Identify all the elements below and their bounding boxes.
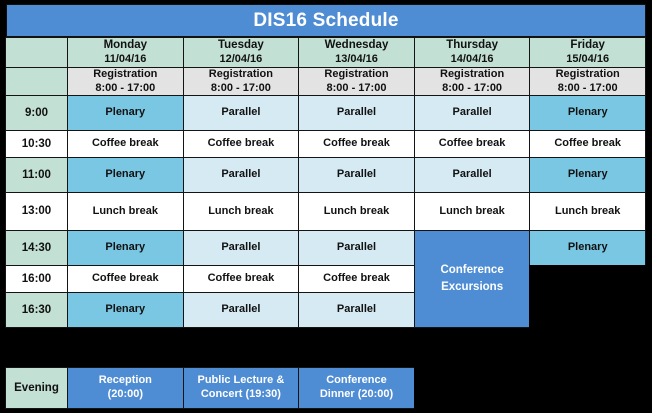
day-header-monday: Monday11/04/16 — [67, 37, 184, 68]
slot-thursday-900: Parallel — [414, 95, 531, 131]
slot-wednesday-1100: Parallel — [298, 157, 415, 193]
registration-cell-friday-line-1: Registration — [556, 68, 620, 82]
evening-event-2: Public Lecture &Concert (19:30) — [183, 367, 300, 409]
evening-event-4-empty — [414, 367, 531, 409]
slot-monday-1600-line-1: Coffee break — [92, 272, 159, 286]
registration-cell-wednesday-line-2: 8:00 - 17:00 — [327, 82, 387, 96]
time-label-1600-line-1: 16:00 — [22, 272, 51, 286]
page-title: DIS16 Schedule — [253, 11, 398, 30]
day-header-tuesday: Tuesday12/04/16 — [183, 37, 300, 68]
evening-row: EveningReception(20:00)Public Lecture &C… — [6, 368, 646, 409]
time-label-1100-line-1: 11:00 — [22, 168, 51, 182]
slot-friday-900-line-1: Plenary — [568, 106, 608, 120]
slot-tuesday-1430: Parallel — [183, 230, 300, 266]
slot-friday-1100-line-1: Plenary — [568, 168, 608, 182]
registration-cell-monday-line-2: 8:00 - 17:00 — [95, 82, 155, 96]
time-label-1430: 14:30 — [5, 230, 68, 266]
slot-tuesday-1100-line-1: Parallel — [221, 168, 260, 182]
slot-monday-900: Plenary — [67, 95, 184, 131]
evening-event-1-line-1: Reception — [99, 374, 152, 388]
slot-wednesday-1030-line-1: Coffee break — [323, 137, 390, 151]
slot-tuesday-900-line-1: Parallel — [221, 106, 260, 120]
time-label-1600: 16:00 — [5, 265, 68, 293]
slot-monday-1430: Plenary — [67, 230, 184, 266]
evening-event-5-empty — [529, 367, 646, 409]
slot-thursday-1030-line-1: Coffee break — [439, 137, 506, 151]
slot-monday-1630: Plenary — [67, 292, 184, 328]
slot-tuesday-1430-line-1: Parallel — [221, 241, 260, 255]
day-header-friday-line-2: 15/04/16 — [566, 53, 609, 67]
evening-event-3: ConferenceDinner (20:00) — [298, 367, 415, 409]
evening-label-cell-line-1: Evening — [14, 381, 59, 395]
time-label-1100: 11:00 — [5, 157, 68, 193]
slot-tuesday-900: Parallel — [183, 95, 300, 131]
time-label-1300-line-1: 13:00 — [22, 204, 51, 218]
slot-friday-1030: Coffee break — [529, 130, 646, 158]
slot-wednesday-1300-line-1: Lunch break — [324, 205, 389, 219]
time-label-1430-line-1: 14:30 — [22, 241, 51, 255]
slot-monday-1430-line-1: Plenary — [105, 241, 145, 255]
registration-cell-thursday-line-2: 8:00 - 17:00 — [442, 82, 502, 96]
slot-wednesday-1030: Coffee break — [298, 130, 415, 158]
slot-thursday-1430-line-1: Conference — [440, 262, 503, 279]
slot-wednesday-1600-line-1: Coffee break — [323, 272, 390, 286]
slot-thursday-1100: Parallel — [414, 157, 531, 193]
registration-cell-thursday: Registration8:00 - 17:00 — [414, 67, 531, 96]
day-header-thursday-line-2: 14/04/16 — [451, 53, 494, 67]
evening-label-cell: Evening — [5, 367, 68, 409]
schedule-page: DIS16 Schedule Monday11/04/16Tuesday12/0… — [0, 0, 652, 413]
evening-event-1: Reception(20:00) — [67, 367, 184, 409]
day-header-wednesday-line-2: 13/04/16 — [335, 53, 378, 67]
evening-event-1-line-2: (20:00) — [108, 388, 143, 402]
slot-wednesday-900: Parallel — [298, 95, 415, 131]
slot-wednesday-1430-line-1: Parallel — [337, 241, 376, 255]
slot-monday-1030: Coffee break — [67, 130, 184, 158]
slot-monday-900-line-1: Plenary — [105, 106, 145, 120]
slot-friday-1100: Plenary — [529, 157, 646, 193]
evening-event-2-line-1: Public Lecture & — [197, 374, 284, 388]
slot-thursday-900-line-1: Parallel — [453, 106, 492, 120]
slot-thursday-1030: Coffee break — [414, 130, 531, 158]
slot-wednesday-1600: Coffee break — [298, 265, 415, 293]
slot-tuesday-1030: Coffee break — [183, 130, 300, 158]
day-header-wednesday-line-1: Wednesday — [325, 38, 389, 52]
time-label-900: 9:00 — [5, 95, 68, 131]
registration-cell-monday: Registration8:00 - 17:00 — [67, 67, 184, 96]
registration-time-cell — [5, 67, 68, 96]
time-label-900-line-1: 9:00 — [25, 106, 48, 120]
slot-friday-1030-line-1: Coffee break — [554, 137, 621, 151]
evening-event-2-line-2: Concert (19:30) — [201, 388, 281, 402]
slot-tuesday-1030-line-1: Coffee break — [208, 137, 275, 151]
day-header-wednesday: Wednesday13/04/16 — [298, 37, 415, 68]
slot-tuesday-1300: Lunch break — [183, 192, 300, 231]
registration-cell-friday: Registration8:00 - 17:00 — [529, 67, 646, 96]
schedule-table: Monday11/04/16Tuesday12/04/16Wednesday13… — [6, 38, 646, 353]
evening-event-3-line-1: Conference — [326, 374, 387, 388]
slot-tuesday-1630-line-1: Parallel — [221, 303, 260, 317]
slot-friday-1430: Plenary — [529, 230, 646, 266]
time-label-1630: 16:30 — [5, 292, 68, 328]
registration-cell-tuesday-line-1: Registration — [209, 68, 273, 82]
slot-monday-1300: Lunch break — [67, 192, 184, 231]
slot-friday-1630-empty — [529, 292, 646, 328]
day-header-thursday-line-1: Thursday — [446, 38, 498, 52]
day-header-friday-line-1: Friday — [570, 38, 605, 52]
slot-tuesday-1300-line-1: Lunch break — [208, 205, 273, 219]
slot-monday-1300-line-1: Lunch break — [93, 205, 158, 219]
time-label-1030-line-1: 10:30 — [22, 137, 51, 151]
slot-thursday-1300-line-1: Lunch break — [439, 205, 504, 219]
registration-cell-friday-line-2: 8:00 - 17:00 — [558, 82, 618, 96]
slot-tuesday-1600-line-1: Coffee break — [208, 272, 275, 286]
slot-thursday-1430: ConferenceExcursions — [414, 230, 531, 328]
slot-wednesday-1300: Lunch break — [298, 192, 415, 231]
slot-friday-1300-line-1: Lunch break — [555, 205, 620, 219]
slot-friday-1600-empty — [529, 265, 646, 293]
slot-monday-1100: Plenary — [67, 157, 184, 193]
slot-friday-900: Plenary — [529, 95, 646, 131]
slot-thursday-1100-line-1: Parallel — [453, 168, 492, 182]
time-label-1630-line-1: 16:30 — [22, 303, 51, 317]
day-header-thursday: Thursday14/04/16 — [414, 37, 531, 68]
slot-monday-1630-line-1: Plenary — [105, 303, 145, 317]
slot-monday-1600: Coffee break — [67, 265, 184, 293]
schedule-title-bar: DIS16 Schedule — [6, 4, 646, 37]
registration-cell-monday-line-1: Registration — [93, 68, 157, 82]
day-header-friday: Friday15/04/16 — [529, 37, 646, 68]
registration-cell-wednesday: Registration8:00 - 17:00 — [298, 67, 415, 96]
slot-wednesday-1630-line-1: Parallel — [337, 303, 376, 317]
corner-cell — [5, 37, 68, 68]
slot-monday-1030-line-1: Coffee break — [92, 137, 159, 151]
day-header-tuesday-line-2: 12/04/16 — [219, 53, 262, 67]
day-header-monday-line-2: 11/04/16 — [104, 53, 146, 67]
evening-event-3-line-2: Dinner (20:00) — [320, 388, 393, 402]
slot-thursday-1300: Lunch break — [414, 192, 531, 231]
day-header-tuesday-line-1: Tuesday — [218, 38, 264, 52]
registration-cell-tuesday-line-2: 8:00 - 17:00 — [211, 82, 271, 96]
day-header-monday-line-1: Monday — [104, 38, 147, 52]
registration-cell-thursday-line-1: Registration — [440, 68, 504, 82]
slot-tuesday-1100: Parallel — [183, 157, 300, 193]
registration-cell-tuesday: Registration8:00 - 17:00 — [183, 67, 300, 96]
slot-wednesday-900-line-1: Parallel — [337, 106, 376, 120]
slot-monday-1100-line-1: Plenary — [105, 168, 145, 182]
slot-friday-1300: Lunch break — [529, 192, 646, 231]
slot-thursday-1430-line-2: Excursions — [441, 279, 503, 296]
slot-wednesday-1430: Parallel — [298, 230, 415, 266]
registration-cell-wednesday-line-1: Registration — [324, 68, 388, 82]
slot-wednesday-1630: Parallel — [298, 292, 415, 328]
time-label-1030: 10:30 — [5, 130, 68, 158]
slot-tuesday-1600: Coffee break — [183, 265, 300, 293]
slot-friday-1430-line-1: Plenary — [568, 241, 608, 255]
time-label-1300: 13:00 — [5, 192, 68, 231]
slot-wednesday-1100-line-1: Parallel — [337, 168, 376, 182]
slot-tuesday-1630: Parallel — [183, 292, 300, 328]
